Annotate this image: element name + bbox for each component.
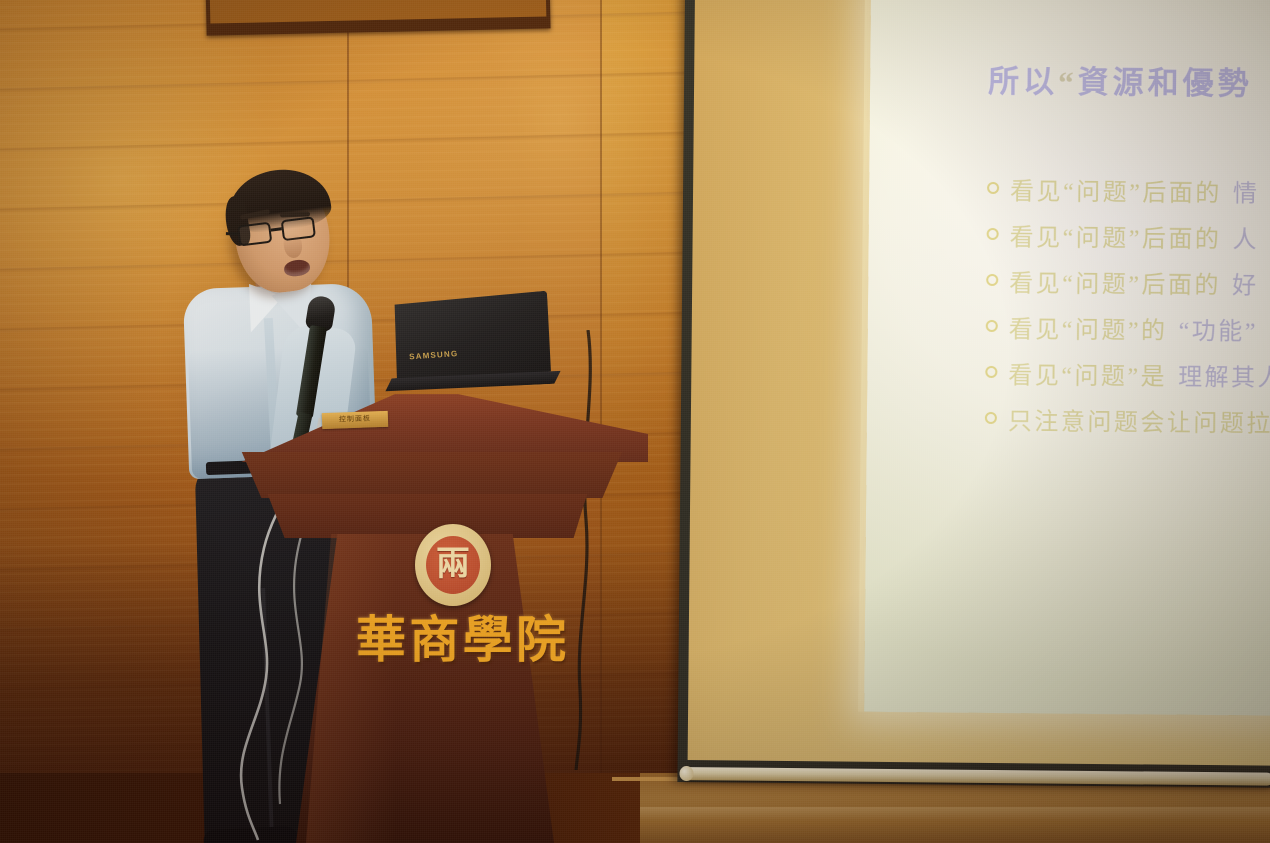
bullet-6-yellow-text: 只注意问题会让问题拉长 — [1008, 401, 1270, 439]
slide-bullet-1: 看见“问题”后面的情 — [987, 165, 1270, 214]
bullet-3-yellow-text: 看见“问题”后面的 — [1009, 263, 1221, 300]
bullet-4-blue-text: “功能” — [1178, 310, 1258, 346]
glasses-temple — [226, 232, 240, 235]
ring-bullet-icon — [985, 412, 997, 424]
institution-name-char-1: 華 — [356, 615, 406, 665]
slide-bullet-3: 看见“问题”后面的好 — [986, 257, 1270, 306]
glasses-bridge — [271, 227, 282, 231]
bullet-5-yellow-text: 看见“问题”是 — [1008, 355, 1167, 392]
ceiling-recess-inner — [210, 0, 547, 24]
ring-bullet-icon — [986, 320, 998, 332]
lectern-plaque-label: 控制面板 — [322, 411, 389, 429]
lectern-body-highlight — [306, 534, 396, 843]
lectern-top — [196, 392, 648, 462]
ring-bullet-icon — [985, 366, 997, 378]
slide-bullet-list: 看见“问题”后面的情 看见“问题”后面的人 看见“问题”后面的好 看见 — [985, 165, 1270, 444]
slide-title-quote: “ — [1058, 65, 1078, 100]
screen-surface: 所以“資源和優勢 看见“问题”后面的情 看见“问题”后面的人 — [688, 0, 1270, 766]
projected-image-area: 所以“資源和優勢 看见“问题”后面的情 看见“问题”后面的人 — [864, 0, 1270, 716]
ring-bullet-icon — [987, 228, 999, 240]
screen-weight-bar-cap — [679, 766, 693, 781]
slide-title-prefix: 所以 — [988, 64, 1058, 100]
lecture-hall-photo: 所以“資源和優勢 看见“问题”后面的情 看见“问题”后面的人 — [0, 0, 1270, 843]
slide-bullet-2: 看见“问题”后面的人 — [986, 211, 1270, 260]
lectern-mid-band — [254, 494, 594, 538]
emblem-disc: 兩 — [426, 536, 480, 594]
emblem-glyph: 兩 — [436, 548, 470, 582]
slide-title: 所以“資源和優勢 — [988, 65, 1270, 102]
bullet-2-yellow-text: 看见“问题”后面的 — [1010, 217, 1222, 254]
lectern-control-plaque: 控制面板 — [322, 411, 389, 429]
institution-name-char-2: 商 — [409, 615, 459, 665]
floor-reflection — [640, 807, 1270, 821]
slide-content: 所以“資源和優勢 看见“问题”后面的情 看见“问题”后面的人 — [864, 0, 1270, 716]
slide-bullet-4: 看见“问题”的“功能” — [986, 303, 1270, 352]
slide-bullet-6: 只注意问题会让问题拉长 — [985, 395, 1270, 444]
institution-name: 華 商 學 院 — [356, 600, 566, 680]
bullet-4-yellow-text: 看见“问题”的 — [1009, 309, 1168, 346]
institution-name-char-3: 學 — [463, 615, 513, 665]
bullet-2-blue-text: 人 — [1232, 219, 1259, 254]
lectern-upper-band — [230, 452, 622, 498]
bullet-5-blue-text: 理解其人 — [1178, 356, 1270, 392]
bullet-1-yellow-text: 看见“问题”后面的 — [1010, 171, 1222, 208]
slide-bullet-5: 看见“问题”是理解其人 — [985, 349, 1270, 398]
projection-screen: 所以“資源和優勢 看见“问题”后面的情 看见“问题”后面的人 — [677, 0, 1270, 788]
bullet-1-blue-text: 情 — [1233, 173, 1260, 208]
bullet-3-blue-text: 好 — [1232, 265, 1259, 300]
ring-bullet-icon — [987, 182, 999, 194]
ring-bullet-icon — [986, 274, 998, 286]
lens-left — [237, 222, 272, 247]
institution-emblem: 兩 — [415, 524, 491, 606]
institution-name-char-4: 院 — [516, 615, 566, 665]
slide-title-body: 資源和優勢 — [1077, 65, 1252, 102]
